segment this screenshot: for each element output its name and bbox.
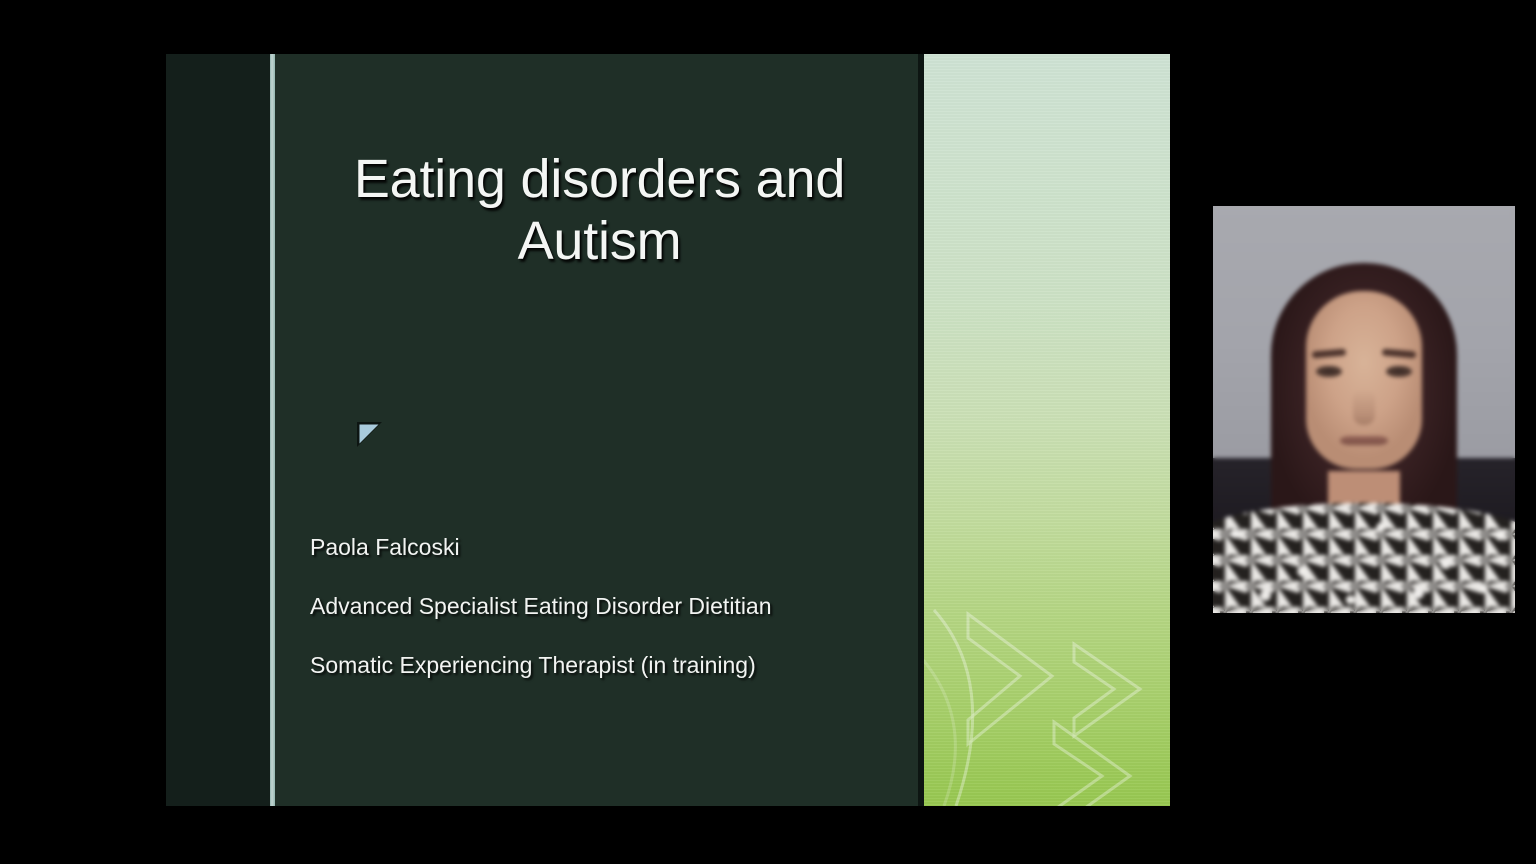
panel-texture	[924, 54, 1170, 806]
slide-title: Eating disorders and Autism	[275, 149, 924, 272]
video-call-stage: Eating disorders and Autism Paola Falcos…	[0, 0, 1536, 864]
shared-slide[interactable]: Eating disorders and Autism Paola Falcos…	[166, 54, 1170, 806]
presenter-patterned-top	[1213, 503, 1515, 613]
presenter-eye-right	[1386, 366, 1412, 377]
presenter-mouth	[1340, 436, 1388, 445]
triangle-bullet-icon	[355, 420, 384, 449]
presenter-eye-left	[1316, 366, 1342, 377]
credit-presenter-qualification: Somatic Experiencing Therapist (in train…	[310, 652, 950, 679]
chevron-outline-icon	[924, 54, 1170, 806]
credit-presenter-name: Paola Falcoski	[310, 534, 950, 561]
speaker-video-tile[interactable]	[1213, 206, 1515, 613]
credit-presenter-role: Advanced Specialist Eating Disorder Diet…	[310, 593, 950, 620]
slide-credits: Paola Falcoski Advanced Specialist Eatin…	[310, 534, 950, 679]
slide-green-side-panel	[924, 54, 1170, 806]
presenter-nose	[1353, 389, 1375, 425]
slide-left-band	[166, 54, 270, 806]
